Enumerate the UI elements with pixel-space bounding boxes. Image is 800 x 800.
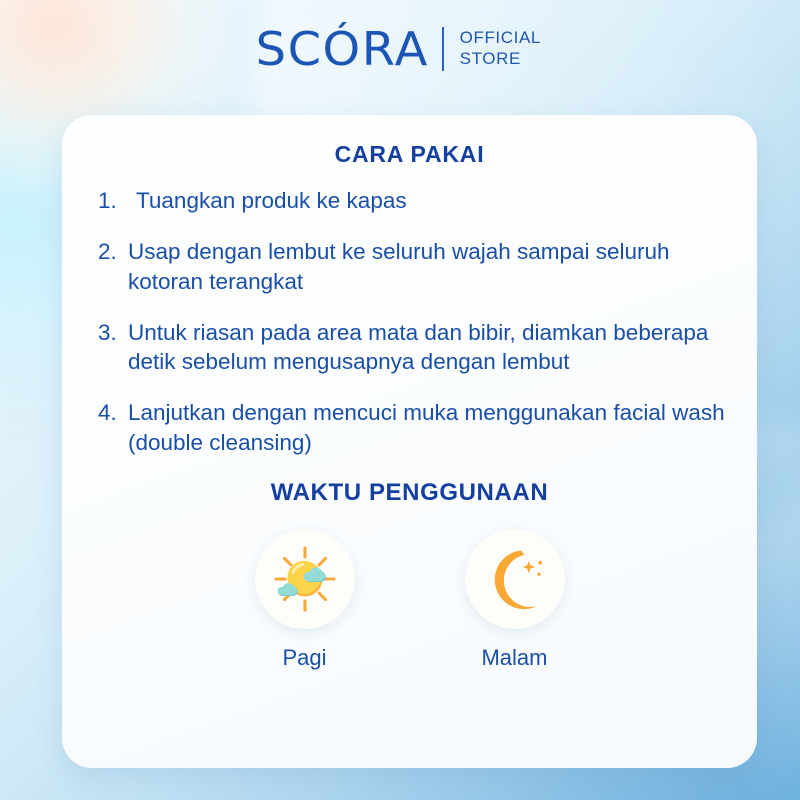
step-number: 4. [98,398,128,457]
step-text: Lanjutkan dengan mencuci muka menggunaka… [128,398,725,457]
list-item: 4. Lanjutkan dengan mencuci muka menggun… [98,398,725,457]
step-number: 3. [98,318,128,377]
usage-label-morning: Pagi [282,645,326,671]
list-item: 1. Tuangkan produk ke kapas [98,186,725,215]
step-text: Tuangkan produk ke kapas [136,186,725,215]
instructions-card: CARA PAKAI 1. Tuangkan produk ke kapas 2… [62,115,757,768]
usage-item-night: Malam [465,529,565,671]
morning-icon-circle [255,529,355,629]
sun-cloud-icon [268,542,342,616]
page-title: CARA PAKAI [84,141,735,168]
step-number: 1. [98,186,136,215]
brand-subtitle-line2: STORE [460,49,541,70]
steps-list: 1. Tuangkan produk ke kapas 2. Usap deng… [84,186,735,457]
brand-subtitle: OFFICIAL STORE [460,28,541,69]
usage-time-row: Pagi Malam [84,529,735,671]
night-icon-circle [465,529,565,629]
crescent-moon-icon [480,544,550,614]
step-number: 2. [98,237,128,296]
brand-divider [442,27,444,71]
step-text: Untuk riasan pada area mata dan bibir, d… [128,318,725,377]
usage-time-title: WAKTU PENGGUNAAN [84,479,735,507]
list-item: 3. Untuk riasan pada area mata dan bibir… [98,318,725,377]
usage-item-morning: Pagi [255,529,355,671]
brand-subtitle-line1: OFFICIAL [460,28,541,49]
step-text: Usap dengan lembut ke seluruh wajah samp… [128,237,725,296]
usage-label-night: Malam [481,645,547,671]
brand-name: SCÓRA [256,26,429,72]
list-item: 2. Usap dengan lembut ke seluruh wajah s… [98,237,725,296]
brand-logo: SCÓRA OFFICIAL STORE [0,26,800,72]
